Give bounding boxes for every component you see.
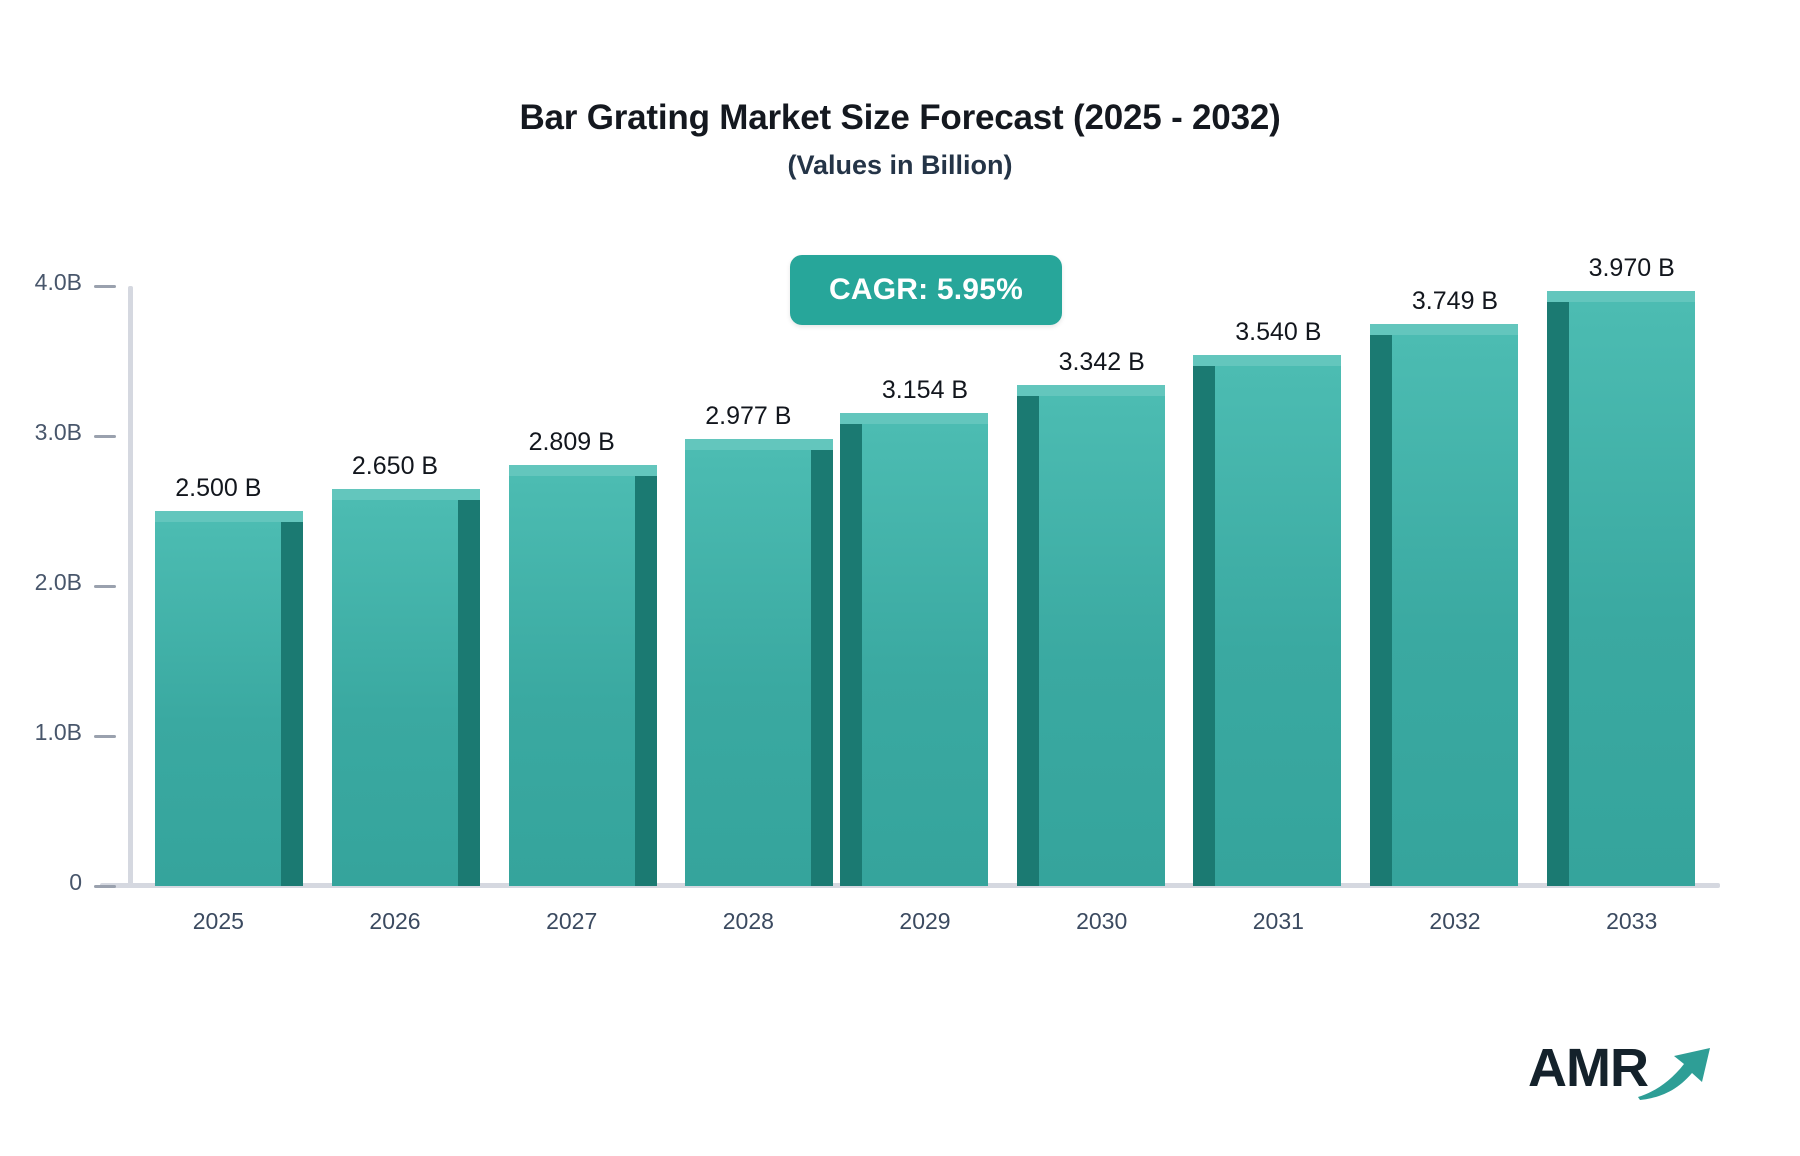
amr-logo-text: AMR	[1528, 1040, 1648, 1096]
y-axis-tick: 2.0B	[0, 585, 116, 588]
bar-top-face	[1547, 291, 1695, 302]
x-axis-label-2030: 2030	[1076, 908, 1127, 935]
bar-top-face	[1017, 385, 1165, 396]
bar-front-face	[155, 522, 281, 886]
bar-2028[interactable]: 2.977 B	[685, 439, 811, 886]
bar-2026[interactable]: 2.650 B	[332, 489, 458, 887]
x-axis-label-2029: 2029	[899, 908, 950, 935]
title-block: Bar Grating Market Size Forecast (2025 -…	[0, 96, 1800, 182]
bar-side-face	[281, 522, 303, 886]
bar-front-face	[509, 476, 635, 886]
bar-value-label: 2.809 B	[529, 428, 615, 457]
x-axis-label-2025: 2025	[193, 908, 244, 935]
bar-front-face	[1215, 366, 1341, 886]
bar-value-label: 2.500 B	[175, 474, 261, 503]
bar-value-label: 3.540 B	[1235, 318, 1321, 347]
y-axis-tick-label: 2.0B	[35, 569, 82, 596]
bar-side-face	[811, 450, 833, 886]
y-axis-tick: 3.0B	[0, 435, 116, 438]
x-axis-label-2033: 2033	[1606, 908, 1657, 935]
y-axis-tick-mark	[94, 885, 116, 888]
x-axis-label-2027: 2027	[546, 908, 597, 935]
y-axis-tick-label: 1.0B	[35, 719, 82, 746]
bar-front-face	[862, 424, 988, 886]
bar-2025[interactable]: 2.500 B	[155, 511, 281, 886]
y-axis-tick-mark	[94, 285, 116, 288]
bar-top-face	[155, 511, 303, 522]
growth-arrow-icon	[1636, 1042, 1712, 1100]
bar-2031[interactable]: 3.540 B	[1215, 355, 1341, 886]
bar-front-face	[332, 500, 458, 887]
bar-value-label: 3.154 B	[882, 376, 968, 405]
x-axis-label-2031: 2031	[1253, 908, 1304, 935]
bar-side-face	[840, 424, 862, 886]
bar-side-face	[635, 476, 657, 886]
bar-value-label: 2.650 B	[352, 452, 438, 481]
bar-value-label: 3.342 B	[1059, 348, 1145, 377]
bar-top-face	[685, 439, 833, 450]
bar-top-face	[840, 413, 988, 424]
bar-top-face	[332, 489, 480, 500]
bar-top-face	[509, 465, 657, 476]
y-axis-tick: 1.0B	[0, 735, 116, 738]
y-axis-tick: 0	[0, 885, 116, 888]
page-title: Bar Grating Market Size Forecast (2025 -…	[0, 96, 1800, 140]
bar-side-face	[458, 500, 480, 887]
y-axis-tick-mark	[94, 735, 116, 738]
bar-value-label: 3.749 B	[1412, 287, 1498, 316]
bar-2029[interactable]: 3.154 B	[862, 413, 988, 886]
amr-logo: AMR	[1528, 1040, 1708, 1110]
bar-front-face	[1569, 302, 1695, 887]
chart-subtitle: (Values in Billion)	[0, 148, 1800, 182]
bar-top-face	[1370, 324, 1518, 335]
bar-side-face	[1193, 366, 1215, 886]
bar-top-face	[1193, 355, 1341, 366]
bar-2027[interactable]: 2.809 B	[509, 465, 635, 886]
bar-side-face	[1547, 302, 1569, 887]
y-axis-tick-label: 3.0B	[35, 419, 82, 446]
x-axis-label-2026: 2026	[369, 908, 420, 935]
bar-front-face	[1039, 396, 1165, 886]
chart-card: Bar Grating Market Size Forecast (2025 -…	[0, 0, 1800, 1156]
bar-value-label: 3.970 B	[1589, 254, 1675, 283]
bar-2030[interactable]: 3.342 B	[1039, 385, 1165, 886]
y-axis-tick: 4.0B	[0, 285, 116, 288]
x-axis-label-2028: 2028	[723, 908, 774, 935]
bar-front-face	[1392, 335, 1518, 886]
y-axis-tick-label: 0	[69, 869, 82, 896]
cagr-badge: CAGR: 5.95%	[790, 255, 1062, 325]
bar-value-label: 2.977 B	[705, 402, 791, 431]
y-axis-tick-label: 4.0B	[35, 269, 82, 296]
x-axis-label-2032: 2032	[1429, 908, 1480, 935]
bar-front-face	[685, 450, 811, 886]
bar-side-face	[1017, 396, 1039, 886]
bar-2032[interactable]: 3.749 B	[1392, 324, 1518, 886]
plot-area: 2.500 B2.650 B2.809 B2.977 B3.154 B3.342…	[130, 286, 1720, 886]
bar-2033[interactable]: 3.970 B	[1569, 291, 1695, 887]
bar-side-face	[1370, 335, 1392, 886]
y-axis-tick-mark	[94, 585, 116, 588]
y-axis-tick-mark	[94, 435, 116, 438]
cagr-badge-label: CAGR: 5.95%	[829, 273, 1023, 307]
